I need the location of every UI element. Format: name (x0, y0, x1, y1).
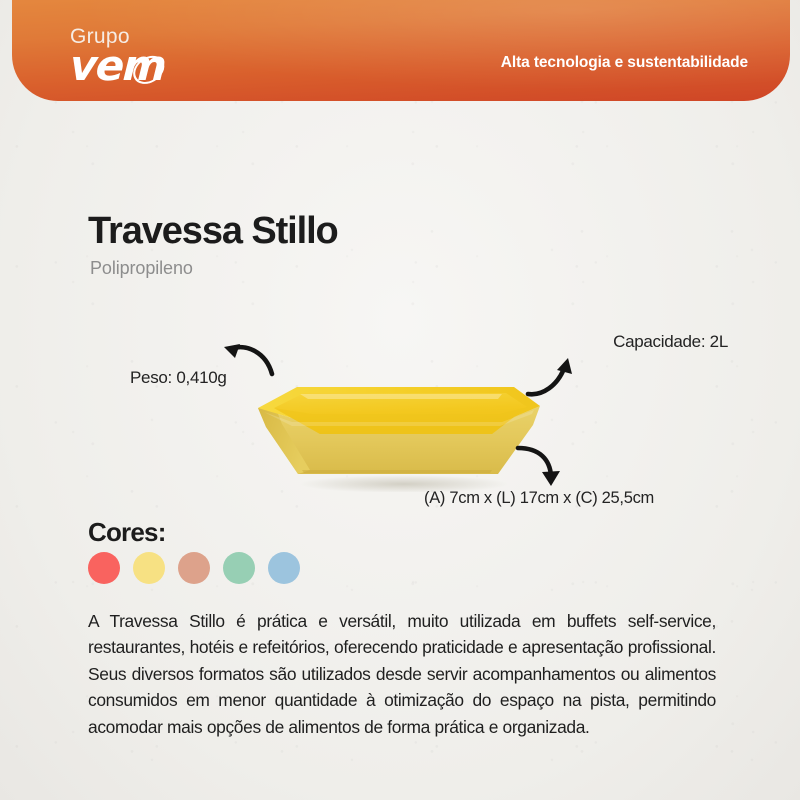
arrow-to-product-dimensions-icon (512, 438, 572, 490)
color-swatch-amarelo[interactable] (133, 552, 165, 584)
callout-capacity: Capacidade: 2L (613, 332, 728, 352)
callout-weight: Peso: 0,410g (130, 368, 227, 388)
page-title: Travessa Stillo (88, 212, 338, 250)
color-swatch-list (88, 552, 300, 584)
color-swatch-terracota[interactable] (178, 552, 210, 584)
header-tagline: Alta tecnologia e sustentabilidade (501, 54, 748, 72)
product-material-subtitle: Polipropileno (90, 258, 193, 279)
logo-vem-text: vem⃝ (69, 45, 166, 87)
color-swatch-verde-menta[interactable] (223, 552, 255, 584)
arrow-to-product-weight-icon (214, 336, 278, 382)
arrow-to-product-capacity-icon (524, 352, 588, 402)
product-description: A Travessa Stillo é prática e versátil, … (88, 608, 716, 740)
color-swatch-coral[interactable] (88, 552, 120, 584)
color-swatch-azul-claro[interactable] (268, 552, 300, 584)
colors-section-title: Cores: (88, 517, 166, 548)
product-image (252, 352, 552, 492)
brand-logo: Grupo vem⃝ (70, 26, 165, 87)
callout-dimensions: (A) 7cm x (L) 17cm x (C) 25,5cm (424, 489, 654, 508)
